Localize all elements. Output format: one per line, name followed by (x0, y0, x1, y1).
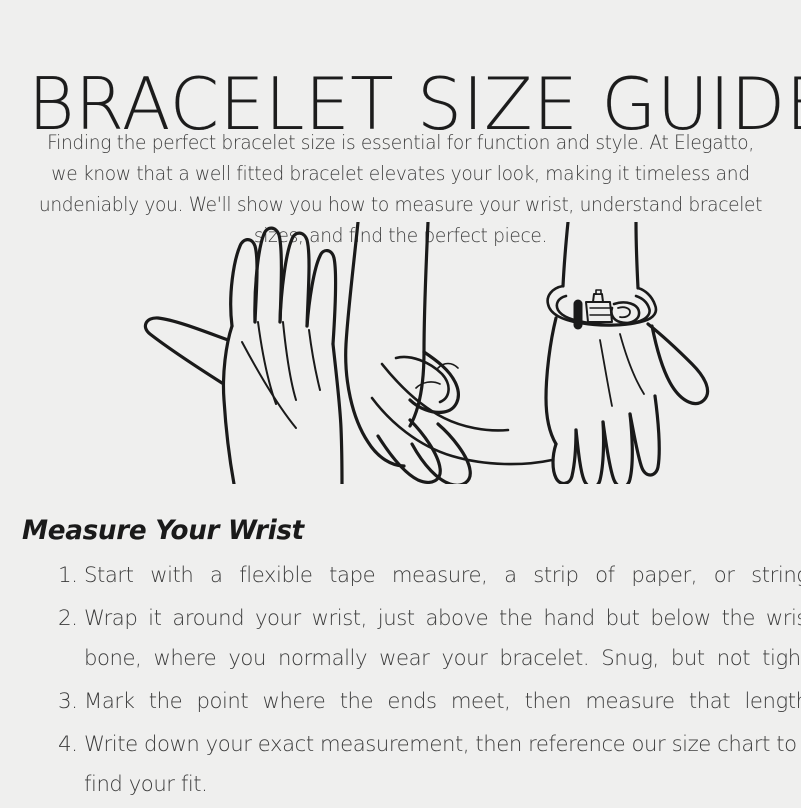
wrist-measurement-illustration (0, 222, 801, 484)
list-item: 2. Wrap it around your wrist, just above… (58, 599, 801, 679)
open-hand-group (145, 228, 356, 484)
step-number: 4. (58, 725, 84, 765)
bracelet-size-guide-page: BRACELET SIZE GUIDE Finding the perfect … (0, 0, 801, 800)
measurement-steps-list: 1. Start with a flexible tape measure, a… (18, 556, 801, 808)
step-text: Write down your exact measurement, then … (84, 725, 801, 805)
step-text: Start with a flexible tape measure, a st… (84, 556, 801, 596)
step-text: Wrap it around your wrist, just above th… (84, 599, 801, 679)
step-number: 2. (58, 599, 84, 639)
step-text: Mark the point where the ends meet, then… (84, 682, 801, 722)
list-item: 1. Start with a flexible tape measure, a… (58, 556, 801, 596)
list-item: 4. Write down your exact measurement, th… (58, 725, 801, 805)
list-item: 3. Mark the point where the ends meet, t… (58, 682, 801, 722)
section-heading-measure-your-wrist: Measure Your Wrist (22, 514, 304, 548)
step-number: 3. (58, 682, 84, 722)
step-number: 1. (58, 556, 84, 596)
illustration-svg (0, 222, 801, 484)
pulling-hand-group (346, 222, 552, 484)
bracelet-hand-group (546, 222, 708, 484)
